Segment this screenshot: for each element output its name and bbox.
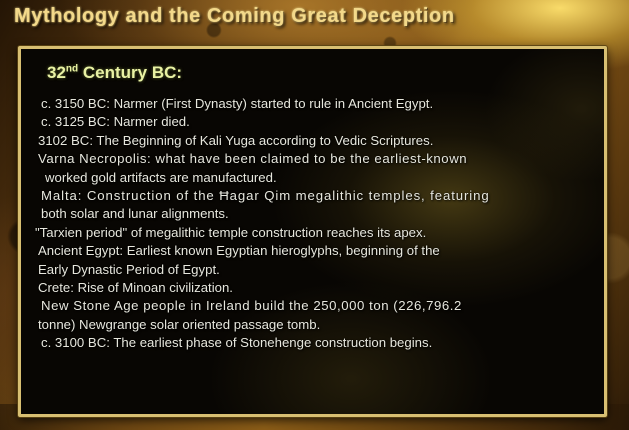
heading-rest: Century BC: (78, 63, 182, 82)
timeline-entry-list: c. 3150 BC: Narmer (First Dynasty) start… (35, 95, 592, 353)
timeline-entry: worked gold artifacts are manufactured. (45, 169, 592, 187)
timeline-entry: c. 3125 BC: Narmer died. (41, 113, 592, 131)
timeline-entry: Varna Necropolis: what have been claimed… (38, 150, 592, 168)
heading-number: 32 (47, 63, 66, 82)
heading-ordinal-suffix: nd (66, 63, 78, 74)
timeline-entry: Malta: Construction of the Ħagar Qim meg… (41, 187, 592, 205)
timeline-entry: tonne) Newgrange solar oriented passage … (38, 316, 592, 334)
panel-content: 32nd Century BC: c. 3150 BC: Narmer (Fir… (21, 49, 604, 353)
section-heading: 32nd Century BC: (47, 63, 592, 83)
timeline-entry: c. 3150 BC: Narmer (First Dynasty) start… (41, 95, 592, 113)
timeline-entry: "Tarxien period" of megalithic temple co… (35, 224, 592, 242)
slide-title: Mythology and the Coming Great Deception (14, 5, 455, 28)
timeline-entry: Early Dynastic Period of Egypt. (38, 261, 592, 279)
timeline-entry: Crete: Rise of Minoan civilization. (38, 279, 592, 297)
timeline-entry: 3102 BC: The Beginning of Kali Yuga acco… (38, 132, 592, 150)
slide-screen: Mythology and the Coming Great Deception… (0, 0, 629, 430)
timeline-entry: Ancient Egypt: Earliest known Egyptian h… (38, 242, 592, 260)
timeline-entry: both solar and lunar alignments. (41, 205, 592, 223)
content-panel: 32nd Century BC: c. 3150 BC: Narmer (Fir… (18, 46, 607, 417)
timeline-entry: New Stone Age people in Ireland build th… (41, 297, 592, 315)
timeline-entry: c. 3100 BC: The earliest phase of Stoneh… (41, 334, 592, 352)
